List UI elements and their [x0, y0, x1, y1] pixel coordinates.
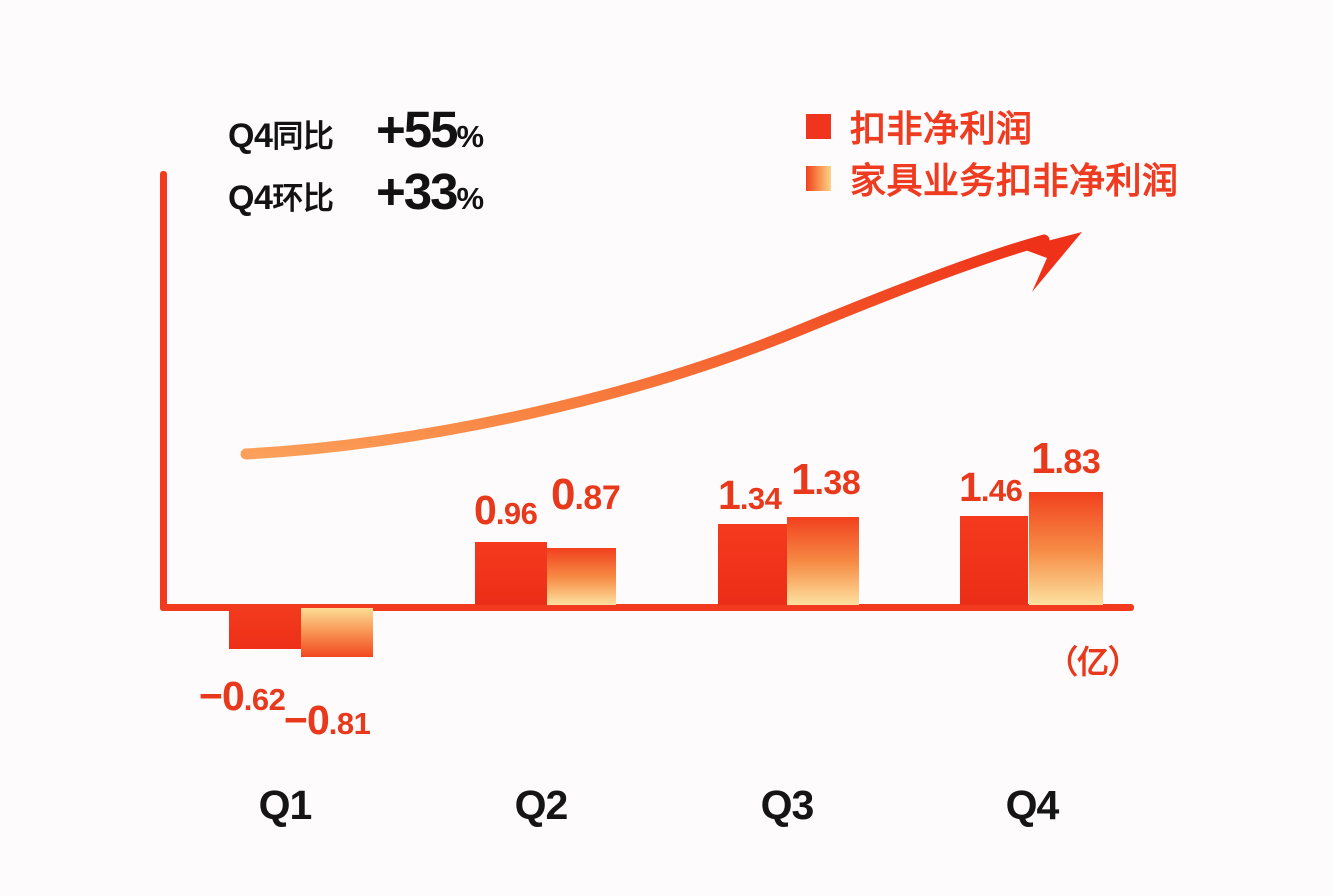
bar-q2-furniture-net-profit[interactable]: [547, 548, 616, 605]
value-int-q4-s2: 1: [1031, 434, 1054, 483]
bar-q2-net-profit[interactable]: [475, 542, 547, 605]
bar-q3-furniture-net-profit[interactable]: [787, 517, 859, 605]
value-dec-q1-s1: .62: [244, 682, 286, 717]
category-label-q1: Q1: [235, 782, 335, 829]
value-int-q2-s1: 0: [474, 487, 496, 533]
value-dec-q4-s2: .83: [1054, 443, 1100, 481]
value-int-q3-s2: 1: [791, 455, 814, 504]
category-label-q4: Q4: [982, 782, 1082, 829]
value-dec-q2-s2: .87: [574, 479, 620, 517]
bar-q3-net-profit[interactable]: [718, 524, 787, 605]
axis-unit-label: （亿）: [1046, 637, 1139, 683]
category-label-q3: Q3: [737, 782, 837, 829]
bar-q4-furniture-net-profit[interactable]: [1029, 492, 1103, 605]
value-label-q3-furniture: 1.38: [791, 458, 860, 502]
value-int-q1-s2: −0: [284, 697, 329, 743]
category-label-q2: Q2: [491, 782, 591, 829]
value-label-q3-net-profit: 1.34: [718, 475, 781, 516]
value-dec-q4-s1: .46: [981, 473, 1023, 508]
value-label-q1-furniture: −0.81: [284, 700, 370, 741]
value-label-q2-net-profit: 0.96: [474, 490, 537, 531]
value-dec-q1-s2: .81: [329, 706, 371, 741]
value-label-q4-net-profit: 1.46: [959, 467, 1022, 508]
value-int-q1-s1: −0: [199, 673, 244, 719]
value-int-q2-s2: 0: [551, 470, 574, 519]
value-int-q4-s1: 1: [959, 464, 981, 510]
value-dec-q3-s1: .34: [740, 481, 782, 516]
value-label-q4-furniture: 1.83: [1031, 437, 1100, 481]
bar-q4-net-profit[interactable]: [960, 516, 1028, 605]
value-label-q2-furniture: 0.87: [551, 473, 620, 517]
value-int-q3-s1: 1: [718, 472, 740, 518]
bar-q1-furniture-net-profit[interactable]: [301, 608, 373, 657]
value-dec-q2-s1: .96: [496, 496, 538, 531]
value-label-q1-net-profit: −0.62: [199, 676, 285, 717]
chart-canvas: Q4同比 +55% Q4环比 +33% 扣非净利润 家具业务扣非净利润: [0, 0, 1334, 896]
bars-layer: [0, 0, 1334, 896]
value-dec-q3-s2: .38: [814, 464, 860, 502]
bar-q1-net-profit[interactable]: [229, 608, 301, 649]
